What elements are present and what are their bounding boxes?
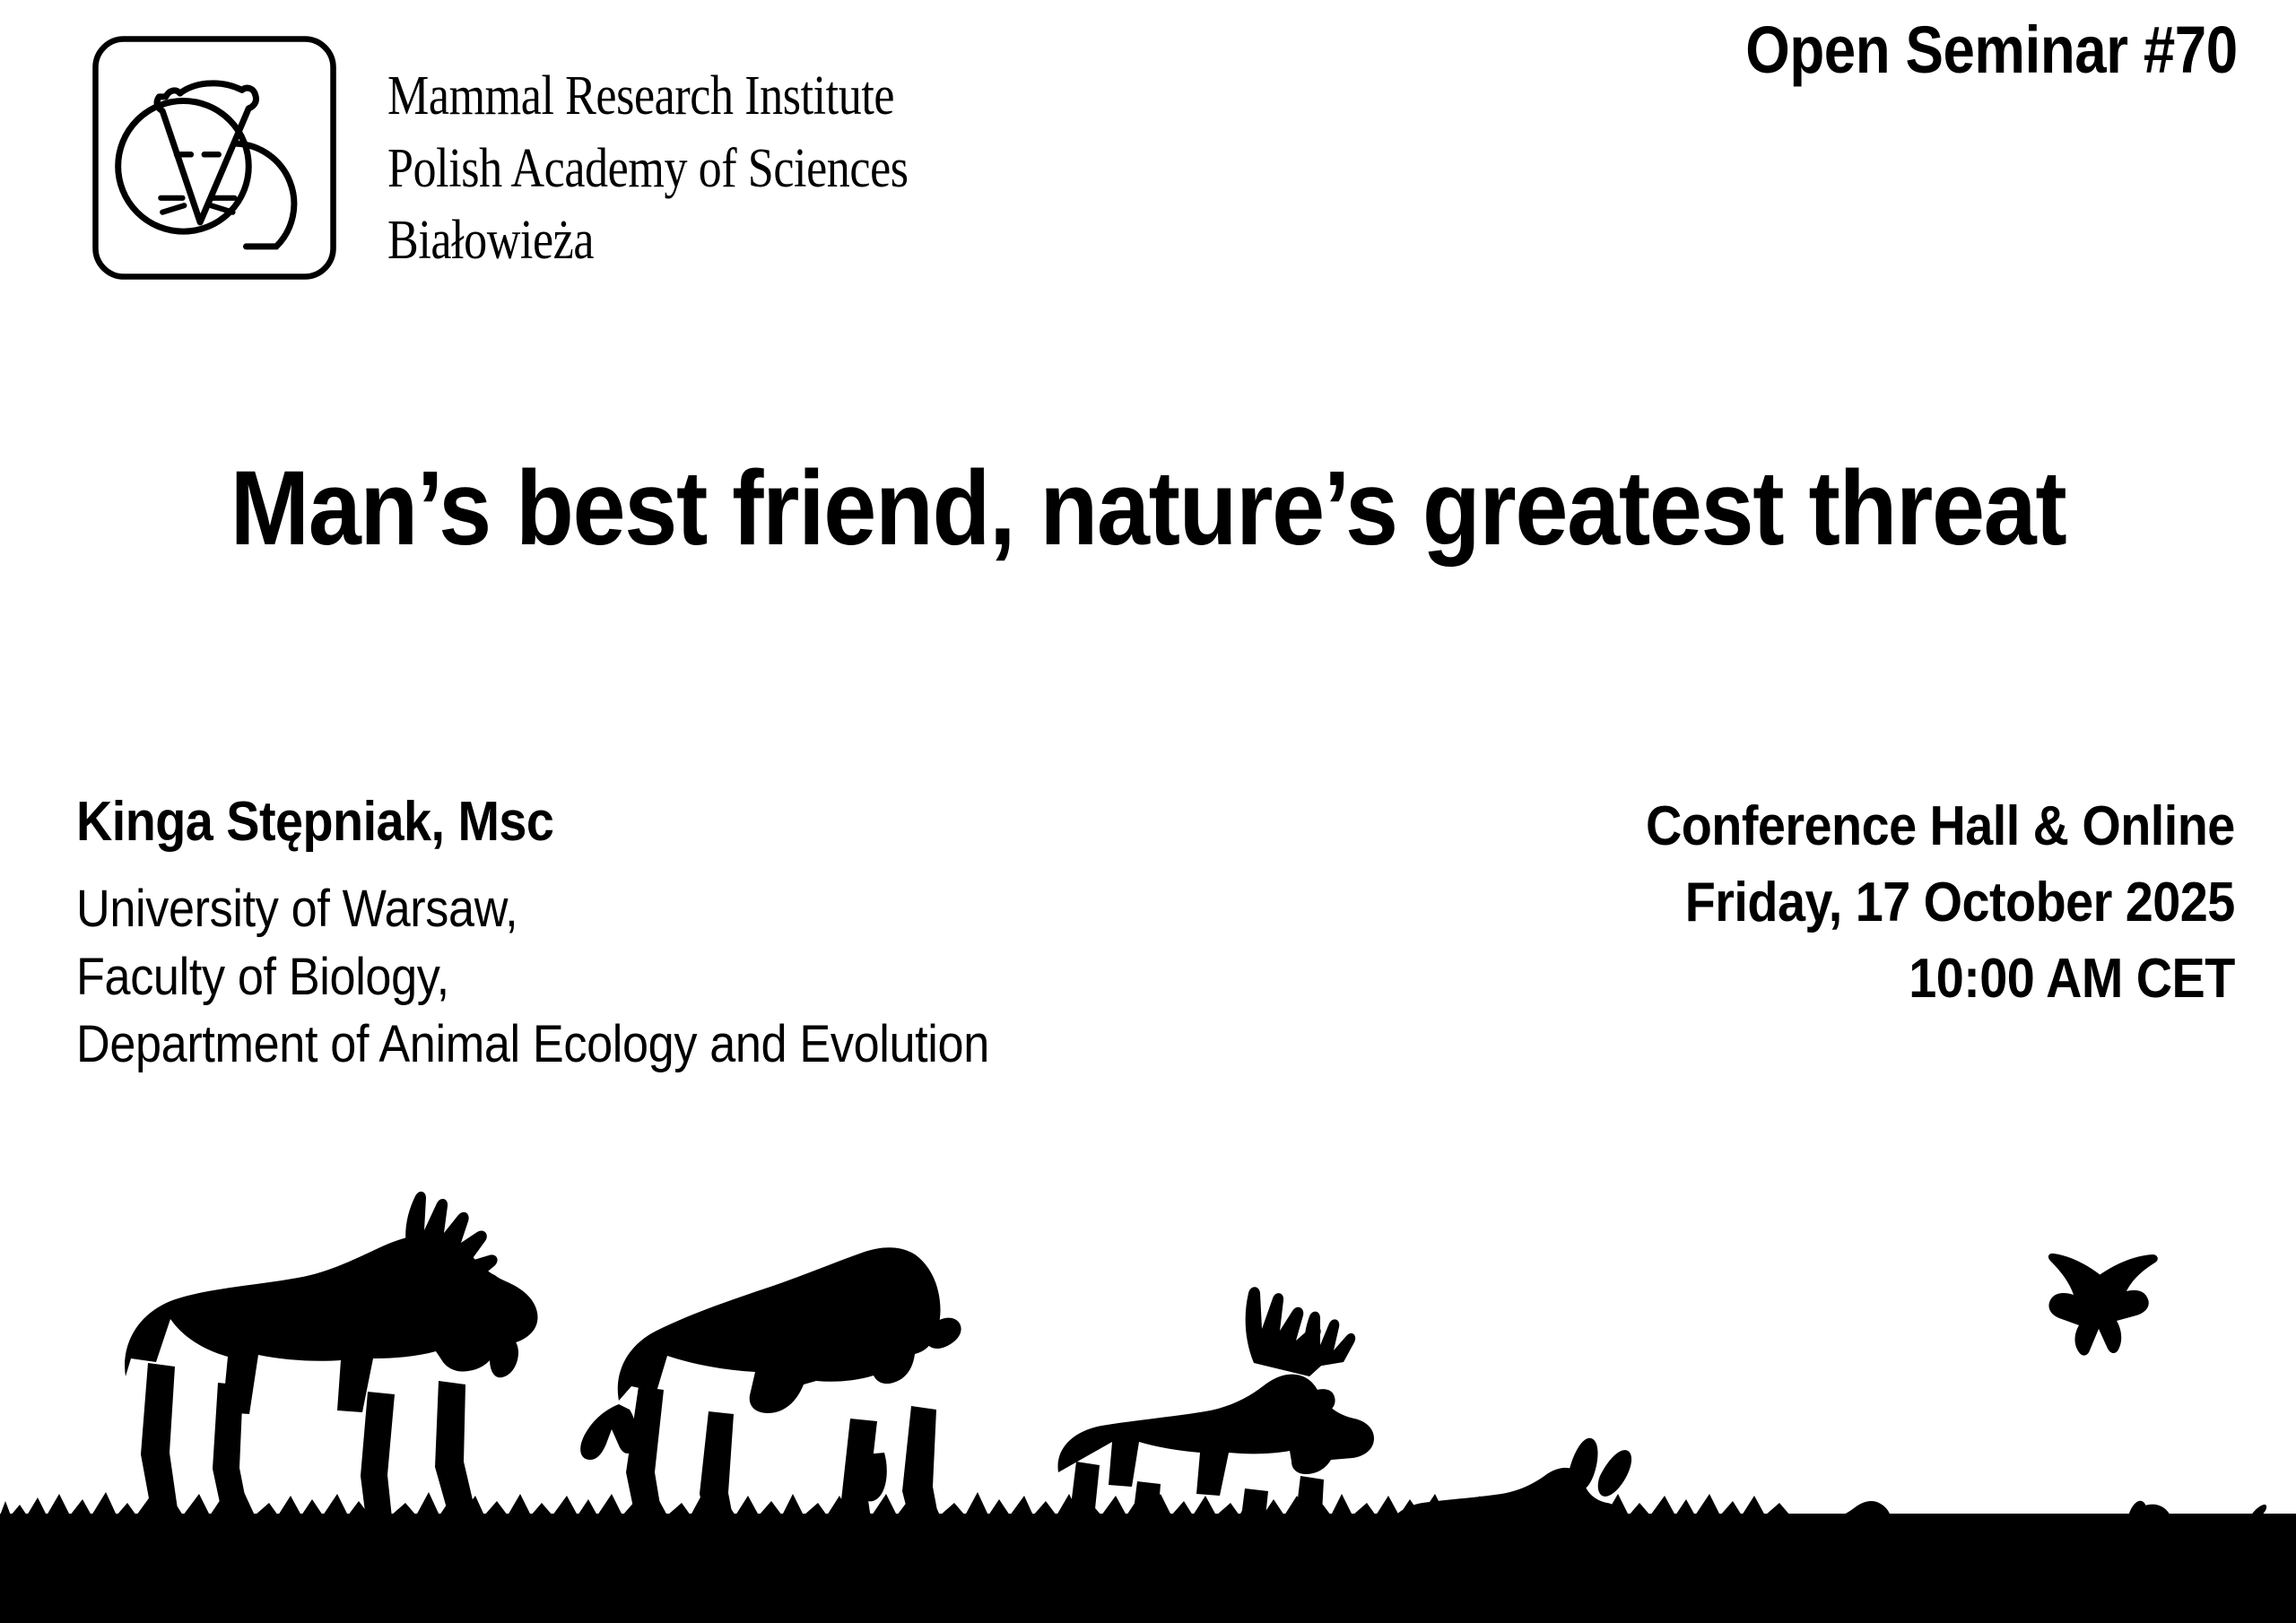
org-line-institute: Mammal Research Institute [387, 60, 909, 133]
seminar-poster: Mammal Research Institute Polish Academy… [0, 0, 2296, 1623]
poster-info-row: Kinga Stępniak, Msc University of Warsaw… [0, 789, 2296, 1058]
animal-silhouette-scene [0, 1067, 2296, 1623]
affiliation-line-faculty: Faculty of Biology, [76, 943, 989, 1011]
mri-pas-shrew-logo-icon [87, 32, 342, 283]
org-line-city: Białowieża [387, 204, 909, 277]
speaker-affiliation: University of Warsaw, Faculty of Biology… [76, 875, 989, 1078]
seminar-number: Open Seminar #70 [1746, 12, 2238, 88]
event-date: Friday, 17 October 2025 [1646, 865, 2235, 942]
event-time: 10:00 AM CET [1646, 942, 2235, 1018]
event-venue: Conference Hall & Online [1646, 789, 2235, 865]
affiliation-line-university: University of Warsaw, [76, 875, 989, 942]
event-details-block: Conference Hall & Online Friday, 17 Octo… [1646, 789, 2235, 1018]
speaker-block: Kinga Stępniak, Msc University of Warsaw… [76, 789, 1091, 1078]
organization-lines: Mammal Research Institute Polish Academy… [387, 60, 909, 277]
org-line-academy: Polish Academy of Sciences [387, 133, 909, 205]
institute-logo-block: Mammal Research Institute Polish Academy… [87, 32, 1007, 283]
bat-silhouette [2048, 1254, 2158, 1356]
page-title: Man’s best friend, nature’s greatest thr… [115, 451, 2181, 568]
speaker-name: Kinga Stępniak, Msc [76, 789, 989, 855]
poster-header: Mammal Research Institute Polish Academy… [0, 0, 2296, 296]
